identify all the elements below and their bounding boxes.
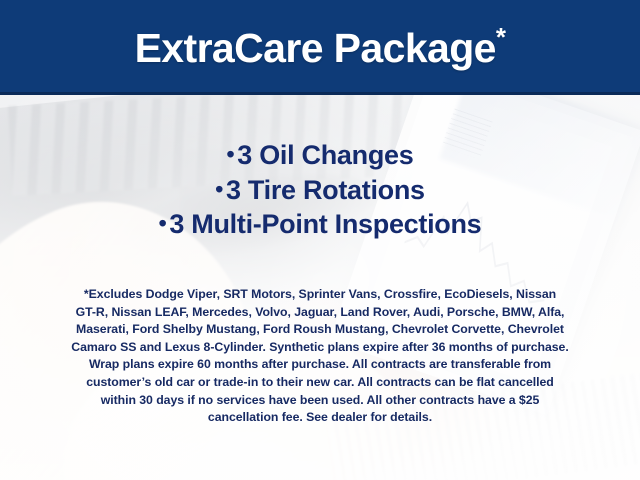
benefit-item-tire-rotations: •3 Tire Rotations	[0, 173, 640, 208]
extracare-package-promo-poster: ExtraCare Package* •3 Oil Changes •3 Tir…	[0, 0, 640, 480]
bullet-dot-icon: •	[159, 210, 167, 236]
benefit-item-multi-point-inspections: •3 Multi-Point Inspections	[0, 207, 640, 242]
benefit-item-oil-changes: •3 Oil Changes	[0, 138, 640, 173]
benefit-label: 3 Oil Changes	[237, 140, 413, 170]
disclaimer-line: within 30 days if no services have been …	[28, 392, 612, 410]
page-title: ExtraCare Package*	[135, 24, 506, 69]
disclaimer-line: *Excludes Dodge Viper, SRT Motors, Sprin…	[28, 286, 612, 304]
disclaimer-line: Maserati, Ford Shelby Mustang, Ford Rous…	[28, 321, 612, 339]
disclaimer-line: Wrap plans expire 60 months after purcha…	[28, 356, 612, 374]
bullet-dot-icon: •	[227, 141, 235, 167]
bullet-dot-icon: •	[215, 176, 223, 202]
benefits-list: •3 Oil Changes •3 Tire Rotations •3 Mult…	[0, 138, 640, 242]
disclaimer-line: customer’s old car or trade-in to their …	[28, 374, 612, 392]
disclaimer-fine-print: *Excludes Dodge Viper, SRT Motors, Sprin…	[28, 286, 612, 427]
disclaimer-line: Camaro SS and Lexus 8-Cylinder. Syntheti…	[28, 339, 612, 357]
disclaimer-line: cancellation fee. See dealer for details…	[28, 409, 612, 427]
poster-content: •3 Oil Changes •3 Tire Rotations •3 Mult…	[0, 92, 640, 480]
benefit-label: 3 Multi-Point Inspections	[169, 209, 481, 239]
disclaimer-line: GT-R, Nissan LEAF, Mercedes, Volvo, Jagu…	[28, 304, 612, 322]
benefit-label: 3 Tire Rotations	[226, 175, 425, 205]
header-band: ExtraCare Package*	[0, 0, 640, 95]
page-title-text: ExtraCare Package	[135, 25, 496, 71]
page-title-asterisk: *	[496, 22, 506, 52]
